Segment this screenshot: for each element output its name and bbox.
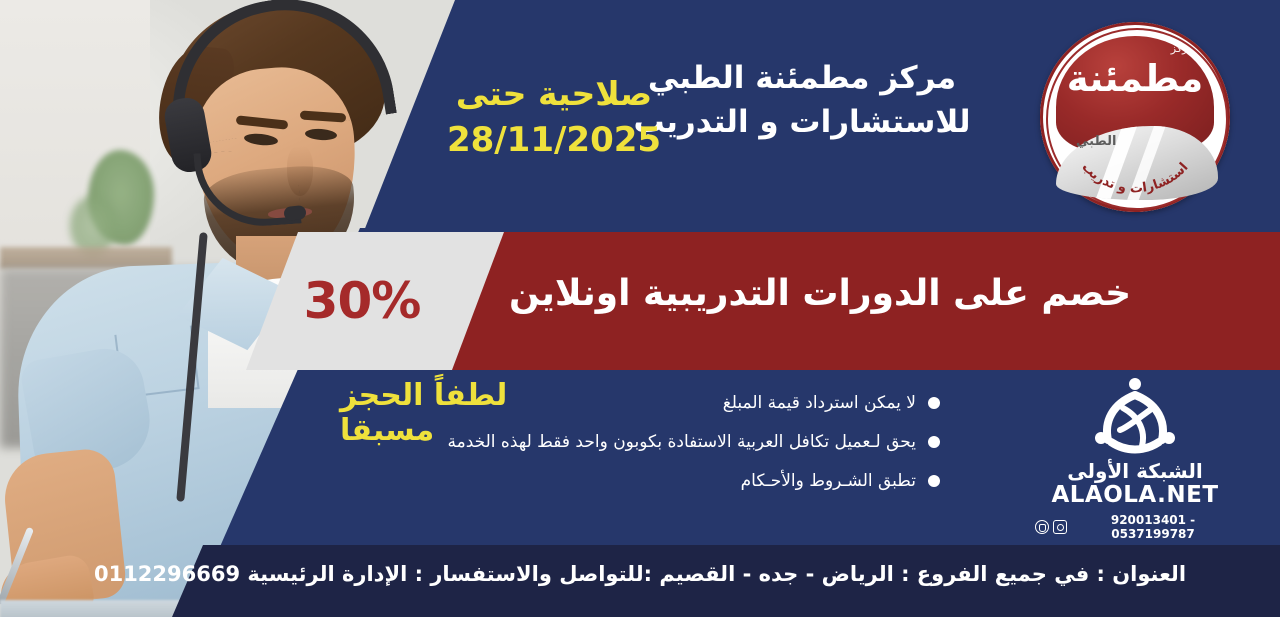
bullet-icon [928,397,940,409]
validity-block: صلاحية حتى 28/11/2025 [432,74,676,162]
alaola-mark-icon [1092,378,1178,456]
discount-percent: 30% [282,272,442,330]
offer-headline: خصم على الدورات التدريبية اونلاين [470,272,1170,315]
conditions-list: لا يمكن استرداد قيمة المبلغ يحق لـعميل ت… [320,392,940,509]
address-phone: 0112296669 [94,562,240,586]
bullet-icon [928,475,940,487]
logo-markaz-label: مركز [1171,42,1194,55]
alaola-english-name: ALAOLA.NET [1035,482,1235,508]
condition-text: يحق لـعميل تكافل العربية الاستفادة بكوبو… [447,431,916,454]
list-item: لا يمكن استرداد قيمة المبلغ [320,392,940,415]
validity-label: صلاحية حتى [432,74,676,114]
alaola-network-logo: الشبكة الأولى ALAOLA.NET 920013401 - 053… [1035,378,1235,574]
address-line: العنوان : في جميع الفروع : الرياض - جده … [247,562,1186,586]
address-text: العنوان : في جميع الفروع : الرياض - جده … [0,562,1280,586]
condition-text: لا يمكن استرداد قيمة المبلغ [723,392,916,415]
alaola-arabic-name: الشبكة الأولى [1035,460,1235,482]
validity-date: 28/11/2025 [432,120,676,161]
list-item: تطبق الشـروط والأحـكام [320,470,940,493]
phone-icon [1035,520,1049,534]
motmaennah-logo: مركز مطمئنة الطبي استشارات و تدريب [1040,22,1230,212]
alaola-phones: 920013401 - 0537199787 [1035,513,1235,541]
logo-name: مطمئنة [1056,60,1214,97]
logo-tibbi-label: الطبي [1076,134,1116,149]
alaola-phone-numbers: 920013401 - 0537199787 [1071,513,1235,541]
bullet-icon [928,436,940,448]
list-item: يحق لـعميل تكافل العربية الاستفادة بكوبو… [320,431,940,454]
whatsapp-icon [1053,520,1067,534]
promotional-banner: مركز مطمئنة الطبي للاستشارات و التدريب ص… [0,0,1280,617]
condition-text: تطبق الشـروط والأحـكام [741,470,916,493]
